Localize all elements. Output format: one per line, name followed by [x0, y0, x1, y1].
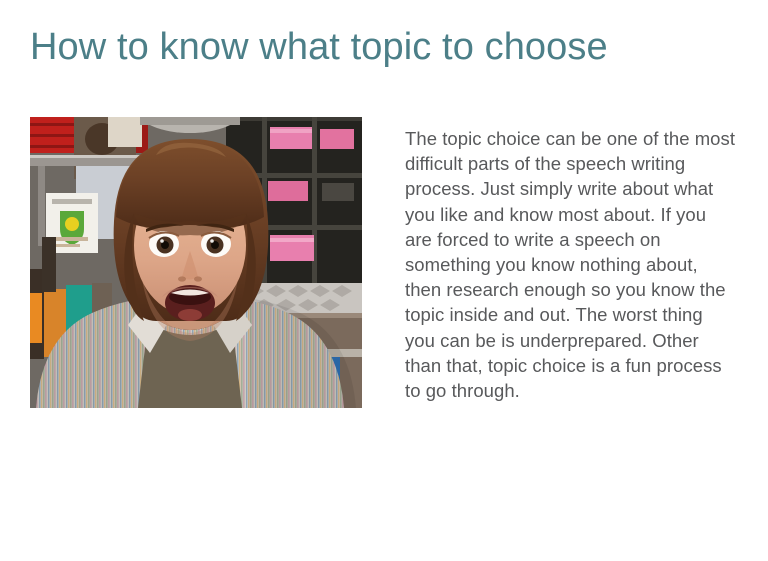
shocked-boy-photo: [30, 117, 362, 408]
slide-image: [30, 117, 362, 408]
presentation-slide: How to know what topic to choose: [0, 0, 768, 561]
slide-body-text: The topic choice can be one of the most …: [405, 126, 735, 403]
page-title: How to know what topic to choose: [30, 24, 740, 70]
